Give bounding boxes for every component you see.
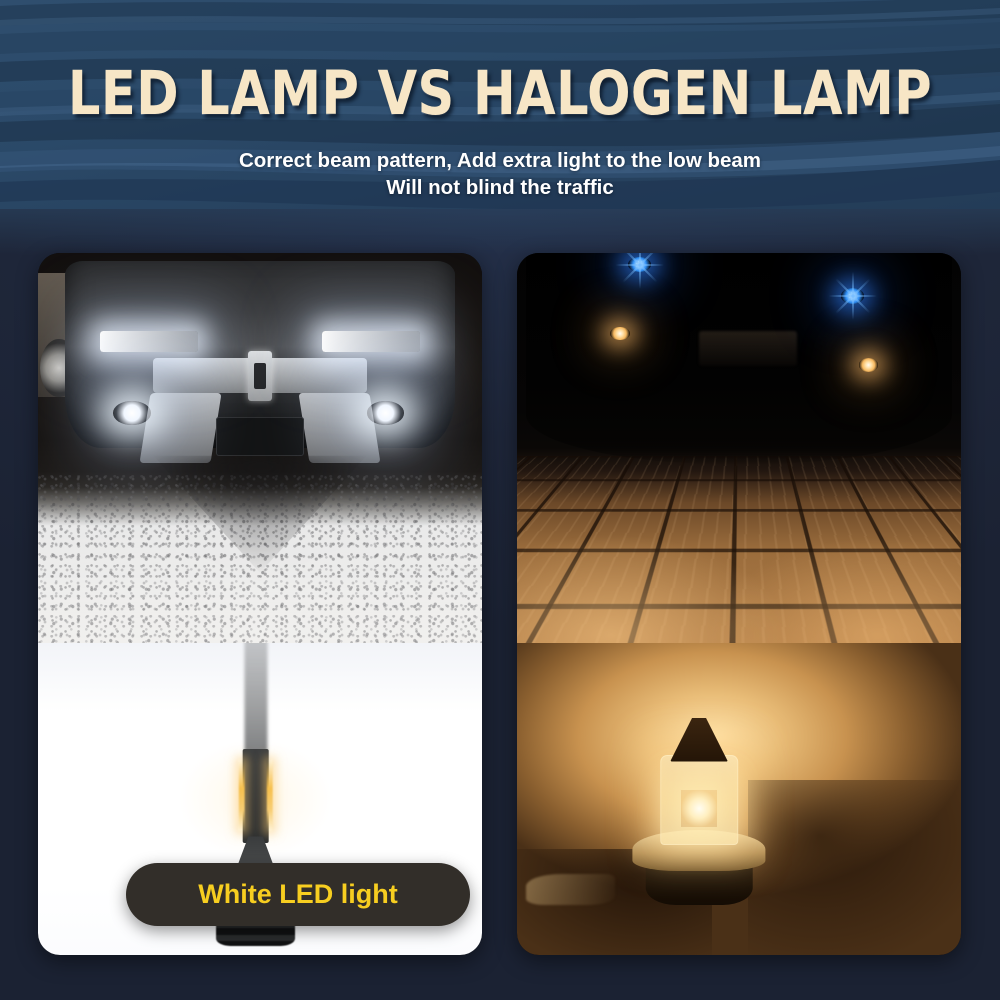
subtitle-line-1: Correct beam pattern, Add extra light to… bbox=[239, 149, 761, 172]
halogen-filament bbox=[681, 790, 717, 827]
led-fog-light-right bbox=[367, 401, 405, 424]
photo-halogen-bulb bbox=[517, 643, 961, 955]
page-subtitle: Correct beam pattern, Add extra light to… bbox=[0, 147, 1000, 201]
bulb-mount-tab-left bbox=[610, 849, 637, 861]
blue-accent-light-right bbox=[841, 288, 864, 304]
led-fog-light-left bbox=[113, 401, 151, 424]
led-headlight-left bbox=[100, 331, 198, 352]
led-headlight-right bbox=[322, 331, 420, 352]
comparison-panel-halogen: yellow halogen lamp bbox=[517, 253, 961, 955]
bumper-trim-left bbox=[139, 393, 221, 463]
bulb-shadow-right bbox=[748, 780, 961, 955]
subtitle-line-2: Will not blind the traffic bbox=[0, 174, 1000, 201]
license-plate-dim bbox=[699, 331, 797, 366]
label-pill-white-led-light: White LED light bbox=[126, 863, 470, 926]
bulb-mount-tab-right bbox=[770, 886, 797, 898]
halogen-fog-light-right bbox=[859, 358, 879, 371]
photo-led-headlights-night bbox=[38, 253, 482, 643]
product-comparison-poster: LED LAMP VS HALOGEN LAMP Correct beam pa… bbox=[0, 0, 1000, 1000]
yellow-beam-pattern bbox=[517, 448, 961, 643]
license-plate bbox=[216, 417, 305, 456]
page-title: LED LAMP VS HALOGEN LAMP bbox=[35, 58, 965, 129]
photo-halogen-headlights-night bbox=[517, 253, 961, 643]
honda-emblem-icon bbox=[248, 351, 271, 402]
comparison-panel-led: White LED light bbox=[38, 253, 482, 955]
bumper-trim-right bbox=[299, 393, 381, 463]
bulb-wire bbox=[526, 874, 615, 905]
led-chip-array bbox=[242, 749, 269, 843]
halogen-bulb-tip bbox=[670, 718, 728, 762]
label-pill-led-text: White LED light bbox=[198, 879, 397, 910]
